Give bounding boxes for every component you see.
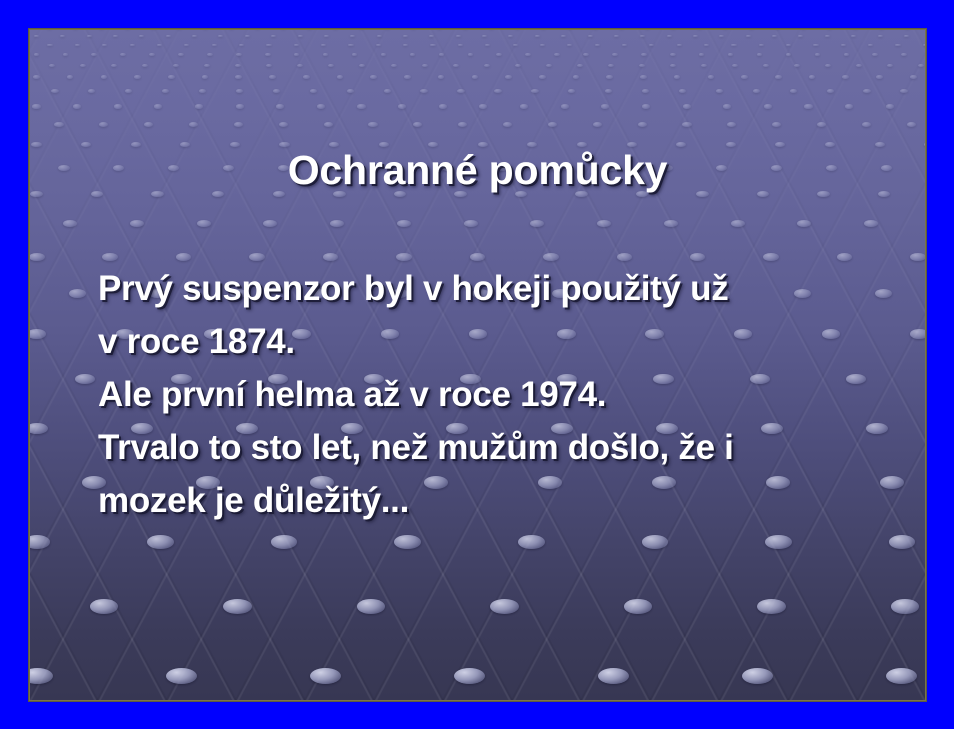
ellipse-stud-icon	[561, 35, 566, 38]
ellipse-stud-icon	[147, 535, 174, 549]
ellipse-stud-icon	[454, 668, 485, 684]
ellipse-stud-icon	[197, 220, 211, 227]
ellipse-stud-icon	[438, 75, 445, 79]
ellipse-stud-icon	[218, 35, 223, 38]
ellipse-stud-icon	[458, 122, 467, 127]
ellipse-stud-icon	[178, 53, 184, 56]
ellipse-stud-icon	[639, 64, 645, 67]
ellipse-stud-icon	[330, 220, 344, 227]
ellipse-stud-icon	[918, 64, 924, 67]
ellipse-stud-icon	[842, 75, 849, 79]
ellipse-stud-icon	[664, 220, 678, 227]
ellipse-stud-icon	[430, 44, 435, 47]
ellipse-stud-icon	[324, 35, 329, 38]
ellipse-stud-icon	[51, 89, 58, 93]
ellipse-stud-icon	[817, 122, 826, 127]
ellipse-stud-icon	[670, 64, 676, 67]
ellipse-stud-icon	[876, 75, 883, 79]
ellipse-stud-icon	[32, 104, 40, 108]
ellipse-stud-icon	[154, 104, 162, 108]
ellipse-stud-icon	[910, 253, 925, 261]
ellipse-stud-icon	[490, 599, 519, 614]
ellipse-stud-icon	[34, 53, 40, 56]
ellipse-stud-icon	[719, 35, 724, 38]
body-line-1: Prvý suspenzor byl v hokeji použitý už	[98, 262, 898, 315]
ellipse-stud-icon	[827, 89, 834, 93]
ellipse-stud-icon	[75, 374, 96, 385]
ellipse-stud-icon	[162, 89, 169, 93]
ellipse-stud-icon	[63, 220, 77, 227]
ellipse-stud-icon	[513, 44, 518, 47]
ellipse-stud-icon	[568, 89, 575, 93]
ellipse-stud-icon	[872, 53, 878, 56]
ellipse-stud-icon	[742, 668, 773, 684]
ellipse-stud-icon	[31, 142, 41, 147]
ellipse-stud-icon	[573, 75, 580, 79]
ellipse-stud-icon	[245, 35, 250, 38]
ellipse-stud-icon	[753, 89, 760, 93]
ellipse-stud-icon	[540, 44, 545, 47]
ellipse-stud-icon	[612, 53, 618, 56]
ellipse-stud-icon	[429, 35, 434, 38]
ellipse-stud-icon	[384, 89, 391, 93]
ellipse-stud-icon	[457, 89, 464, 93]
ellipse-stud-icon	[554, 53, 560, 56]
ellipse-stud-icon	[166, 35, 171, 38]
ellipse-stud-icon	[303, 75, 310, 79]
ellipse-stud-icon	[546, 64, 552, 67]
ellipse-stud-icon	[731, 44, 736, 47]
ellipse-stud-icon	[825, 35, 830, 38]
ellipse-stud-icon	[520, 104, 528, 108]
ellipse-stud-icon	[348, 44, 353, 47]
ellipse-stud-icon	[485, 44, 490, 47]
ellipse-stud-icon	[114, 104, 122, 108]
ellipse-stud-icon	[420, 89, 427, 93]
ellipse-stud-icon	[403, 44, 408, 47]
ellipse-stud-icon	[583, 53, 589, 56]
ellipse-stud-icon	[617, 253, 633, 261]
ellipse-stud-icon	[391, 64, 397, 67]
ellipse-stud-icon	[494, 89, 501, 93]
ellipse-stud-icon	[764, 104, 772, 108]
ellipse-stud-icon	[73, 104, 81, 108]
ellipse-stud-icon	[397, 220, 411, 227]
ellipse-stud-icon	[236, 104, 244, 108]
ellipse-stud-icon	[324, 122, 333, 127]
ellipse-stud-icon	[588, 35, 593, 38]
ellipse-stud-icon	[786, 53, 792, 56]
ellipse-stud-icon	[376, 44, 381, 47]
ellipse-stud-icon	[741, 75, 748, 79]
ellipse-stud-icon	[484, 64, 490, 67]
ellipse-stud-icon	[63, 53, 69, 56]
ellipse-stud-icon	[470, 253, 486, 261]
ellipse-stud-icon	[606, 75, 613, 79]
ellipse-stud-icon	[90, 599, 119, 614]
ellipse-stud-icon	[561, 104, 569, 108]
ellipse-stud-icon	[189, 122, 198, 127]
ellipse-stud-icon	[875, 142, 885, 147]
ellipse-stud-icon	[396, 253, 412, 261]
ellipse-stud-icon	[195, 104, 203, 108]
ellipse-stud-icon	[368, 122, 377, 127]
ellipse-stud-icon	[101, 75, 108, 79]
ellipse-stud-icon	[357, 599, 386, 614]
ellipse-stud-icon	[337, 75, 344, 79]
ellipse-stud-icon	[642, 89, 649, 93]
ellipse-stud-icon	[728, 53, 734, 56]
ellipse-stud-icon	[235, 64, 241, 67]
ellipse-stud-icon	[273, 89, 280, 93]
ellipse-stud-icon	[878, 35, 883, 38]
ellipse-stud-icon	[683, 104, 691, 108]
ellipse-stud-icon	[868, 44, 873, 47]
ellipse-stud-icon	[608, 64, 614, 67]
ellipse-stud-icon	[856, 64, 862, 67]
ellipse-stud-icon	[889, 535, 916, 549]
ellipse-stud-icon	[88, 89, 95, 93]
ellipse-stud-icon	[263, 220, 277, 227]
ellipse-stud-icon	[508, 35, 513, 38]
ellipse-stud-icon	[422, 64, 428, 67]
ellipse-stud-icon	[310, 668, 341, 684]
ellipse-stud-icon	[67, 75, 74, 79]
ellipse-stud-icon	[864, 220, 878, 227]
ellipse-stud-icon	[479, 104, 487, 108]
ellipse-stud-icon	[496, 53, 502, 56]
ellipse-stud-icon	[638, 122, 647, 127]
ellipse-stud-icon	[166, 668, 197, 684]
ellipse-stud-icon	[886, 104, 894, 108]
ellipse-stud-icon	[54, 122, 63, 127]
ellipse-stud-icon	[234, 122, 243, 127]
ellipse-stud-icon	[359, 64, 365, 67]
ellipse-stud-icon	[772, 122, 781, 127]
ellipse-stud-icon	[464, 220, 478, 227]
body-line-5: mozek je důležitý...	[98, 474, 898, 527]
ellipse-stud-icon	[772, 35, 777, 38]
ellipse-stud-icon	[75, 44, 80, 47]
ellipse-stud-icon	[605, 89, 612, 93]
ellipse-stud-icon	[670, 53, 676, 56]
ellipse-stud-icon	[518, 535, 545, 549]
ellipse-stud-icon	[352, 53, 358, 56]
ellipse-stud-icon	[548, 122, 557, 127]
ellipse-stud-icon	[815, 53, 821, 56]
ellipse-stud-icon	[111, 64, 117, 67]
ellipse-stud-icon	[595, 44, 600, 47]
ellipse-stud-icon	[693, 35, 698, 38]
ellipse-stud-icon	[99, 122, 108, 127]
ellipse-stud-icon	[266, 44, 271, 47]
ellipse-stud-icon	[727, 122, 736, 127]
ellipse-stud-icon	[704, 44, 709, 47]
slide-viewport: Ochranné pomůcky Prvý suspenzor byl v ho…	[0, 0, 954, 729]
ellipse-stud-icon	[439, 104, 447, 108]
ellipse-stud-icon	[130, 220, 144, 227]
ellipse-stud-icon	[841, 44, 846, 47]
ellipse-stud-icon	[184, 44, 189, 47]
ellipse-stud-icon	[180, 142, 190, 147]
ellipse-stud-icon	[310, 89, 317, 93]
ellipse-stud-icon	[825, 142, 835, 147]
ellipse-stud-icon	[271, 35, 276, 38]
ellipse-stud-icon	[33, 75, 40, 79]
ellipse-stud-icon	[614, 35, 619, 38]
ellipse-stud-icon	[845, 104, 853, 108]
ellipse-stud-icon	[622, 44, 627, 47]
ellipse-stud-icon	[765, 535, 792, 549]
slide-title: Ochranné pomůcky	[30, 148, 925, 193]
ellipse-stud-icon	[81, 142, 91, 147]
ellipse-stud-icon	[192, 35, 197, 38]
ellipse-stud-icon	[377, 35, 382, 38]
ellipse-stud-icon	[887, 64, 893, 67]
slide-body: Prvý suspenzor byl v hokeji použitý už v…	[98, 262, 898, 527]
ellipse-stud-icon	[139, 35, 144, 38]
ellipse-stud-icon	[677, 44, 682, 47]
ellipse-stud-icon	[910, 75, 917, 79]
ellipse-stud-icon	[472, 75, 479, 79]
ellipse-stud-icon	[235, 75, 242, 79]
ellipse-stud-icon	[323, 53, 329, 56]
ellipse-stud-icon	[757, 599, 786, 614]
ellipse-stud-icon	[924, 142, 925, 147]
ellipse-stud-icon	[901, 53, 907, 56]
ellipse-stud-icon	[895, 44, 900, 47]
ellipse-stud-icon	[323, 253, 339, 261]
ellipse-stud-icon	[404, 75, 411, 79]
ellipse-stud-icon	[294, 44, 299, 47]
ellipse-stud-icon	[80, 64, 86, 67]
ellipse-stud-icon	[142, 64, 148, 67]
ellipse-stud-icon	[239, 44, 244, 47]
ellipse-stud-icon	[515, 64, 521, 67]
ellipse-stud-icon	[682, 122, 691, 127]
ellipse-stud-icon	[539, 75, 546, 79]
ellipse-stud-icon	[530, 220, 544, 227]
ellipse-stud-icon	[102, 253, 118, 261]
ellipse-stud-icon	[641, 53, 647, 56]
ellipse-stud-icon	[593, 122, 602, 127]
ellipse-stud-icon	[910, 329, 925, 339]
ellipse-stud-icon	[531, 89, 538, 93]
ellipse-stud-icon	[30, 423, 48, 435]
ellipse-stud-icon	[597, 220, 611, 227]
ellipse-stud-icon	[794, 64, 800, 67]
ellipse-stud-icon	[294, 53, 300, 56]
ellipse-stud-icon	[202, 75, 209, 79]
ellipse-stud-icon	[87, 35, 92, 38]
ellipse-stud-icon	[157, 44, 162, 47]
ellipse-stud-icon	[102, 44, 107, 47]
ellipse-stud-icon	[763, 64, 769, 67]
ellipse-stud-icon	[271, 535, 298, 549]
ellipse-stud-icon	[266, 64, 272, 67]
ellipse-stud-icon	[413, 122, 422, 127]
ellipse-stud-icon	[577, 64, 583, 67]
ellipse-stud-icon	[403, 35, 408, 38]
ellipse-stud-icon	[321, 44, 326, 47]
ellipse-stud-icon	[891, 599, 920, 614]
ellipse-stud-icon	[212, 44, 217, 47]
ellipse-stud-icon	[458, 44, 463, 47]
ellipse-stud-icon	[726, 142, 736, 147]
ellipse-stud-icon	[236, 89, 243, 93]
ellipse-stud-icon	[732, 64, 738, 67]
ellipse-stud-icon	[731, 220, 745, 227]
ellipse-stud-icon	[640, 35, 645, 38]
ellipse-stud-icon	[825, 64, 831, 67]
ellipse-stud-icon	[676, 142, 686, 147]
ellipse-stud-icon	[113, 35, 118, 38]
ellipse-stud-icon	[173, 64, 179, 67]
ellipse-stud-icon	[775, 75, 782, 79]
ellipse-stud-icon	[699, 53, 705, 56]
ellipse-stud-icon	[120, 53, 126, 56]
ellipse-stud-icon	[624, 599, 653, 614]
ellipse-stud-icon	[701, 64, 707, 67]
body-line-3: Ale první helma až v roce 1974.	[98, 368, 898, 421]
ellipse-stud-icon	[723, 104, 731, 108]
ellipse-stud-icon	[844, 53, 850, 56]
ellipse-stud-icon	[505, 75, 512, 79]
ellipse-stud-icon	[269, 75, 276, 79]
ellipse-stud-icon	[34, 35, 39, 38]
ellipse-stud-icon	[535, 35, 540, 38]
ellipse-stud-icon	[775, 142, 785, 147]
ellipse-stud-icon	[667, 35, 672, 38]
ellipse-stud-icon	[837, 253, 853, 261]
ellipse-stud-icon	[649, 44, 654, 47]
ellipse-stud-icon	[328, 64, 334, 67]
ellipse-stud-icon	[176, 253, 192, 261]
ellipse-stud-icon	[543, 253, 559, 261]
ellipse-stud-icon	[456, 35, 461, 38]
ellipse-stud-icon	[394, 535, 421, 549]
ellipse-stud-icon	[923, 44, 925, 47]
ellipse-stud-icon	[204, 64, 210, 67]
ellipse-stud-icon	[907, 122, 916, 127]
ellipse-stud-icon	[134, 75, 141, 79]
ellipse-stud-icon	[381, 53, 387, 56]
ellipse-stud-icon	[690, 253, 706, 261]
ellipse-stud-icon	[786, 44, 791, 47]
ellipse-stud-icon	[746, 35, 751, 38]
ellipse-stud-icon	[317, 104, 325, 108]
ellipse-stud-icon	[30, 329, 46, 339]
ellipse-stud-icon	[398, 104, 406, 108]
ellipse-stud-icon	[69, 289, 86, 298]
ellipse-stud-icon	[357, 104, 365, 108]
ellipse-stud-icon	[47, 44, 52, 47]
ellipse-stud-icon	[798, 35, 803, 38]
ellipse-stud-icon	[642, 535, 669, 549]
ellipse-stud-icon	[347, 89, 354, 93]
ellipse-stud-icon	[91, 53, 97, 56]
ellipse-stud-icon	[797, 220, 811, 227]
ellipse-stud-icon	[863, 89, 870, 93]
ellipse-stud-icon	[276, 104, 284, 108]
ellipse-stud-icon	[640, 75, 647, 79]
ellipse-stud-icon	[199, 89, 206, 93]
ellipse-stud-icon	[790, 89, 797, 93]
body-line-2: v roce 1874.	[98, 315, 898, 368]
ellipse-stud-icon	[279, 122, 288, 127]
ellipse-stud-icon	[862, 122, 871, 127]
ellipse-stud-icon	[757, 53, 763, 56]
ellipse-stud-icon	[886, 668, 917, 684]
ellipse-stud-icon	[708, 75, 715, 79]
ellipse-stud-icon	[679, 89, 686, 93]
ellipse-stud-icon	[809, 75, 816, 79]
ellipse-stud-icon	[567, 44, 572, 47]
ellipse-stud-icon	[716, 89, 723, 93]
presentation-slide: Ochranné pomůcky Prvý suspenzor byl v ho…	[30, 30, 925, 700]
ellipse-stud-icon	[249, 253, 265, 261]
ellipse-stud-icon	[525, 53, 531, 56]
ellipse-stud-icon	[125, 89, 132, 93]
ellipse-stud-icon	[763, 253, 779, 261]
ellipse-stud-icon	[598, 668, 629, 684]
ellipse-stud-icon	[297, 64, 303, 67]
ellipse-stud-icon	[60, 35, 65, 38]
ellipse-stud-icon	[468, 53, 474, 56]
ellipse-stud-icon	[482, 35, 487, 38]
ellipse-stud-icon	[813, 44, 818, 47]
body-line-4: Trvalo to sto let, než mužům došlo, že i	[98, 421, 898, 474]
ellipse-stud-icon	[453, 64, 459, 67]
ellipse-stud-icon	[207, 53, 213, 56]
ellipse-stud-icon	[370, 75, 377, 79]
ellipse-stud-icon	[144, 122, 153, 127]
ellipse-stud-icon	[503, 122, 512, 127]
ellipse-stud-icon	[674, 75, 681, 79]
ellipse-stud-icon	[236, 53, 242, 56]
ellipse-stud-icon	[223, 599, 252, 614]
ellipse-stud-icon	[601, 104, 609, 108]
ellipse-stud-icon	[168, 75, 175, 79]
ellipse-stud-icon	[265, 53, 271, 56]
ellipse-stud-icon	[851, 35, 856, 38]
ellipse-stud-icon	[49, 64, 55, 67]
ellipse-stud-icon	[439, 53, 445, 56]
ellipse-stud-icon	[904, 35, 909, 38]
ellipse-stud-icon	[131, 142, 141, 147]
ellipse-stud-icon	[130, 44, 135, 47]
ellipse-stud-icon	[230, 142, 240, 147]
ellipse-stud-icon	[410, 53, 416, 56]
ellipse-stud-icon	[30, 668, 53, 684]
ellipse-stud-icon	[149, 53, 155, 56]
ellipse-stud-icon	[642, 104, 650, 108]
ellipse-stud-icon	[804, 104, 812, 108]
ellipse-stud-icon	[30, 253, 45, 261]
ellipse-stud-icon	[350, 35, 355, 38]
ellipse-stud-icon	[298, 35, 303, 38]
ellipse-stud-icon	[900, 89, 907, 93]
ellipse-stud-icon	[759, 44, 764, 47]
ellipse-stud-icon	[30, 535, 50, 549]
